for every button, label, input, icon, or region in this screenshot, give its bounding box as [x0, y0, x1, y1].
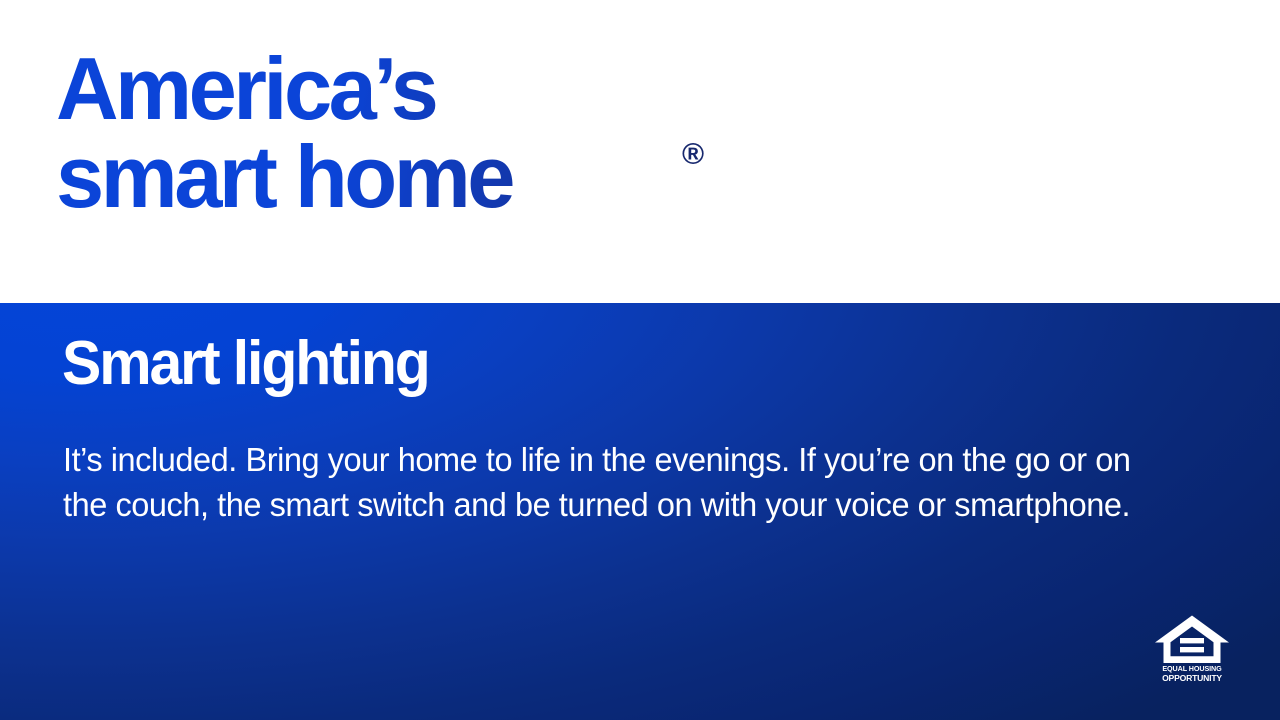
equal-housing-opportunity-logo: EQUAL HOUSING OPPORTUNITY [1154, 614, 1230, 688]
slide-canvas: America’s smart home ® Smart lighting It… [0, 0, 1280, 720]
body-paragraph: It’s included. Bring your home to life i… [63, 437, 1161, 527]
brand-logo-line-2-wrapper: smart home ® [56, 134, 756, 219]
brand-logo-line-2: smart home [56, 134, 746, 219]
brand-logo-line-1: America’s [56, 46, 746, 131]
brand-logo-lockup: America’s smart home ® [56, 46, 756, 220]
equal-housing-house-icon [1154, 614, 1230, 664]
equal-housing-caption: EQUAL HOUSING OPPORTUNITY [1154, 665, 1230, 682]
brand-panel: America’s smart home ® [0, 0, 1280, 303]
page-title: Smart lighting [62, 333, 429, 395]
eho-caption-line-2: OPPORTUNITY [1154, 674, 1230, 683]
registered-trademark-icon: ® [682, 140, 704, 170]
